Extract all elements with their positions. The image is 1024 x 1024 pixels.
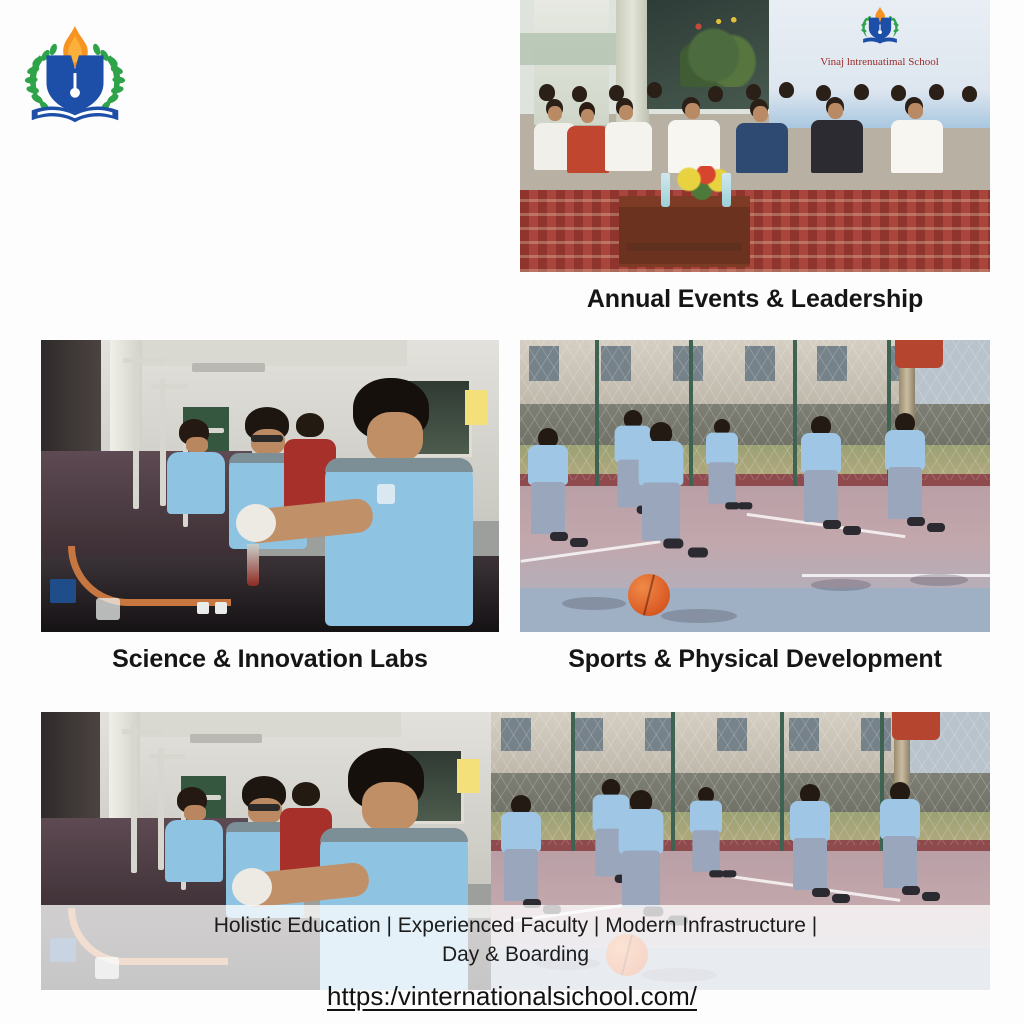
court-key-area [520, 588, 990, 632]
fence-post [595, 340, 599, 486]
basketball [628, 574, 670, 616]
school-crest-logo-icon [16, 18, 134, 136]
red-carpet [520, 190, 990, 272]
footer-photo-band: Holistic Education | Experienced Faculty… [41, 712, 990, 990]
wooden-table [619, 196, 751, 267]
retort-stand [133, 352, 139, 510]
water-bottle [722, 173, 731, 207]
website-url-link[interactable]: https:/vinternationalsichool.com/ [0, 981, 1024, 1012]
retort-clamp [151, 384, 188, 389]
player-shadow [661, 609, 737, 623]
school-crest-logo [16, 18, 134, 136]
hall-green-panel [520, 33, 623, 66]
banner-crest-icon [857, 3, 903, 49]
burette-tube [247, 544, 259, 586]
photo-science-labs [41, 340, 499, 632]
player-shadow [562, 597, 626, 610]
conical-flask [236, 504, 276, 542]
caption-sports: Sports & Physical Development [520, 645, 990, 674]
poster-canvas: Vinaj lntrenuatimal School [0, 0, 1024, 1024]
basketball-hoop [895, 340, 943, 368]
photo-annual-events: Vinaj lntrenuatimal School [520, 0, 990, 272]
reagent-bottle [197, 602, 209, 614]
fence-post [793, 340, 797, 486]
sports-court-scene [520, 340, 990, 632]
banner-school-name: Vinaj lntrenuatimal School [820, 56, 938, 68]
lab-ceiling [133, 340, 408, 366]
caption-science-labs: Science & Innovation Labs [41, 645, 499, 674]
water-bottle [661, 173, 670, 207]
reagent-bottle [215, 602, 227, 614]
ceiling-fan [192, 363, 265, 372]
event-hall-scene: Vinaj lntrenuatimal School [520, 0, 990, 272]
caption-annual-events: Annual Events & Leadership [520, 285, 990, 314]
fence-post [689, 340, 693, 486]
retort-clamp [123, 358, 164, 363]
science-lab-scene [41, 340, 499, 632]
photo-sports [520, 340, 990, 632]
footer-tagline: Holistic Education | Experienced Faculty… [41, 912, 990, 970]
player-shadow [910, 574, 968, 586]
seated-audience [520, 71, 990, 202]
beaker [96, 598, 120, 620]
blue-equipment-box [50, 579, 76, 603]
student-back-left [165, 419, 227, 569]
